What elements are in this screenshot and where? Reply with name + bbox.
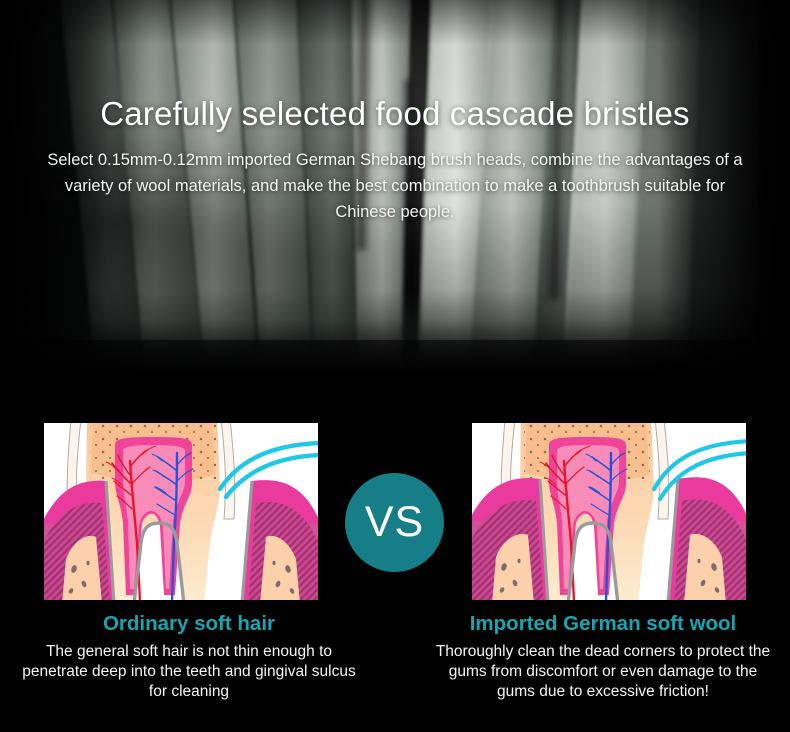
product-detail-page: Carefully selected food cascade bristles… [0,0,790,732]
hero-title: Carefully selected food cascade bristles [0,94,790,134]
caption-right-body: Thoroughly clean the dead corners to pro… [428,642,778,702]
caption-right-title: Imported German soft wool [428,611,778,637]
caption-right: Imported German soft wool Thoroughly cle… [428,611,778,702]
vs-label: VS [365,501,424,544]
caption-left-title: Ordinary soft hair [14,611,364,637]
caption-left: Ordinary soft hair The general soft hair… [14,611,364,702]
comparison-image-right [472,423,746,600]
hero-banner: Carefully selected food cascade bristles… [0,0,790,372]
hero-text-block: Carefully selected food cascade bristles… [0,94,790,225]
caption-left-body: The general soft hair is not thin enough… [14,642,364,702]
vs-badge: VS [345,473,444,572]
hero-subtitle: Select 0.15mm-0.12mm imported German She… [37,147,753,225]
tooth-diagram-left [44,423,318,600]
comparison-image-left [44,423,318,600]
tooth-diagram-right [472,423,746,600]
